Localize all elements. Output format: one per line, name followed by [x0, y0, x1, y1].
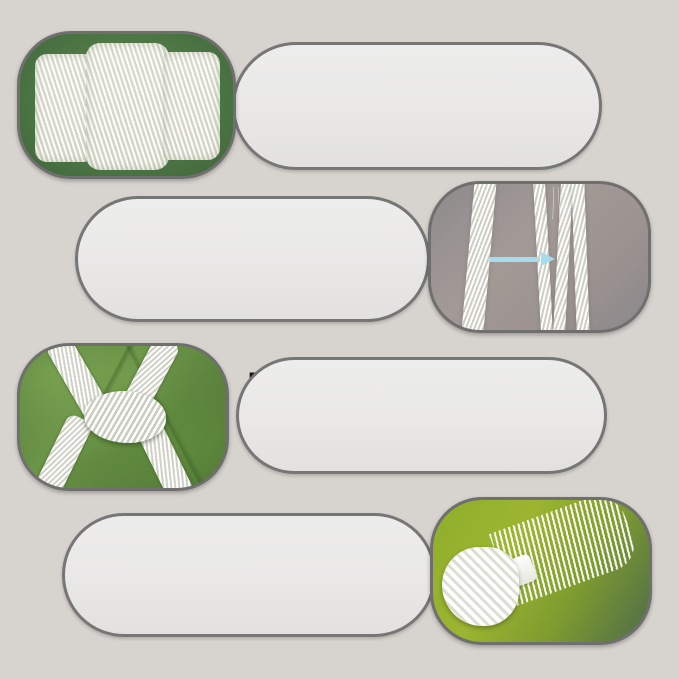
- frayed-fibers: [535, 187, 574, 219]
- arrow-head: [541, 252, 555, 266]
- feature-panel-three-strand-woven: [75, 196, 430, 322]
- strand-three: [571, 181, 590, 333]
- rope-bundle-right: [163, 52, 221, 160]
- feature-image-three-strands: [428, 181, 651, 333]
- feature-image-rope-coil: [17, 31, 236, 179]
- rope-coil-illustration: [20, 34, 233, 176]
- feature-panel-durable-zip-ties: [62, 513, 436, 637]
- arrow-shaft: [490, 257, 541, 262]
- product-feature-infographic: High Quality √ Polyester √ No elasticity…: [0, 0, 679, 679]
- arrow-right-icon: [490, 253, 555, 265]
- feature-panel-designed-with-twisted: [236, 357, 607, 474]
- rope-bundle-left: [35, 54, 90, 162]
- feature-panel-high-quality: [232, 42, 602, 170]
- rope-bundle-center: [86, 43, 169, 171]
- feature-image-zip-ties: [430, 497, 652, 645]
- feature-image-knot: [17, 343, 229, 491]
- knot-center: [84, 391, 166, 442]
- zip-tie-heads: [442, 547, 520, 627]
